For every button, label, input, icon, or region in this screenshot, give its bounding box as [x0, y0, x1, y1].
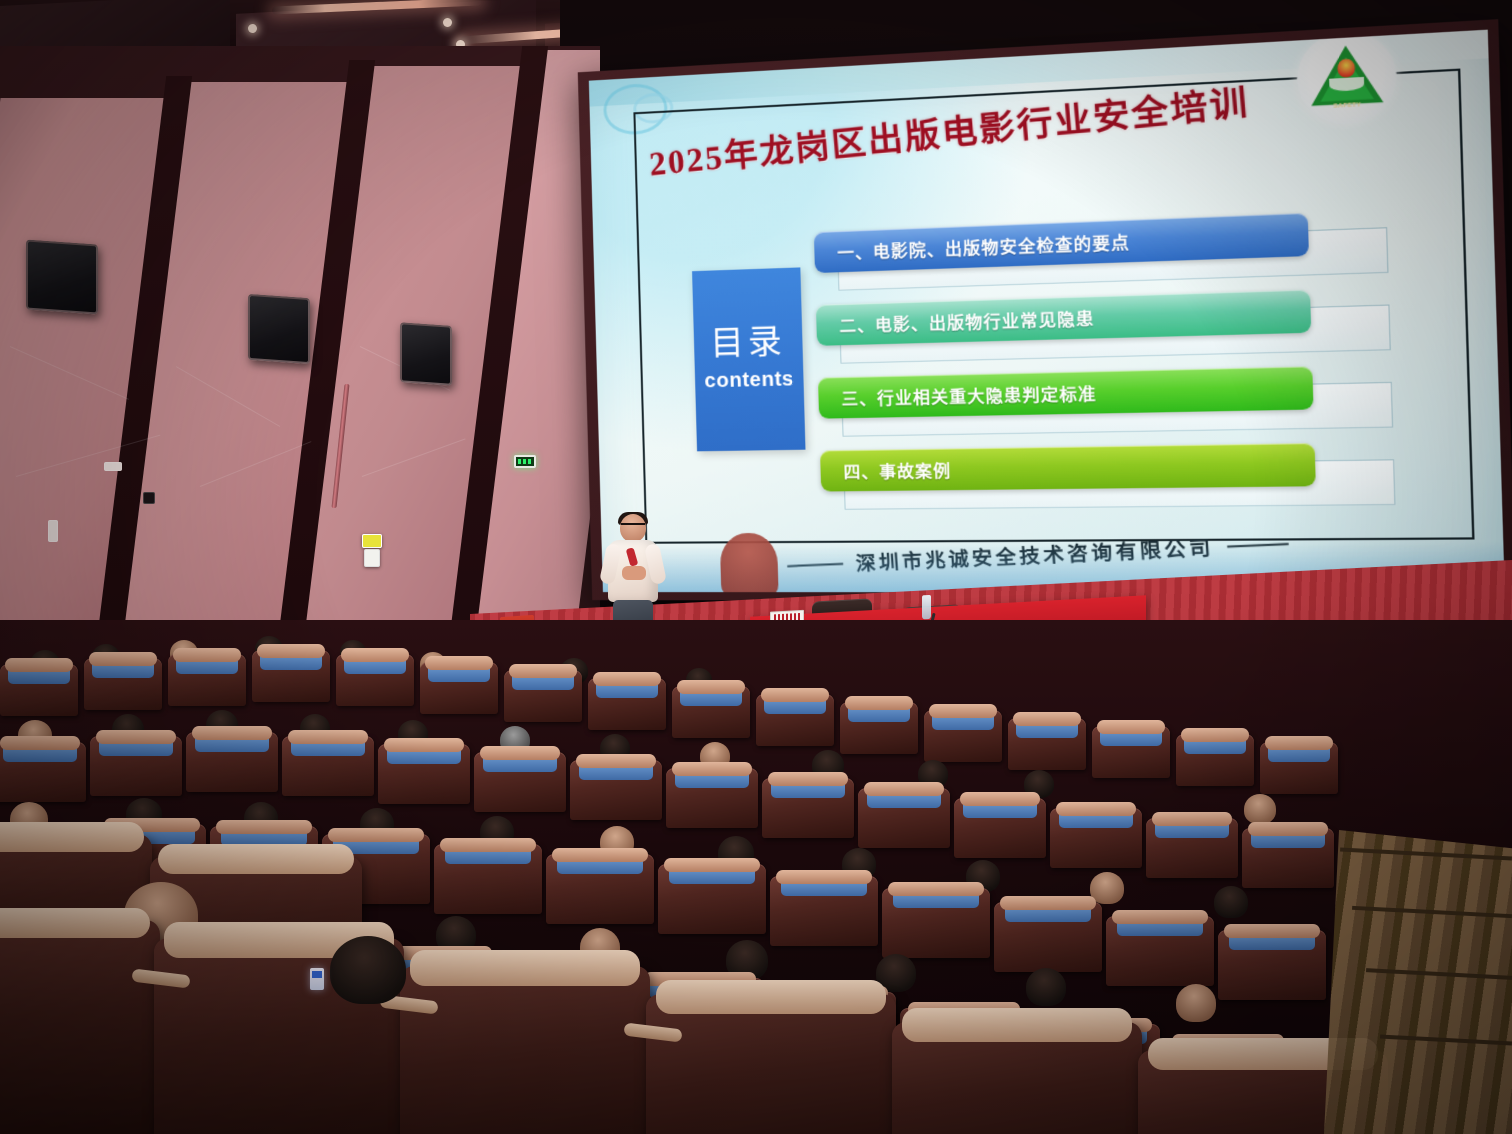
seat[interactable] [892, 1022, 1142, 1134]
seat[interactable] [1176, 734, 1254, 786]
slide: SAFETY 2025年龙岗区出版电影行业安全培训 目录 contents 一、… [589, 30, 1505, 593]
water-bottle [922, 595, 931, 619]
seat[interactable] [420, 662, 498, 714]
seat[interactable] [474, 752, 566, 812]
seat[interactable] [0, 742, 86, 802]
list-item: 二、电影、出版物行业常见隐患 [816, 287, 1391, 366]
seat[interactable] [994, 902, 1102, 972]
seat[interactable] [672, 686, 750, 738]
seat[interactable] [252, 650, 330, 702]
seat[interactable] [90, 736, 182, 796]
seat[interactable] [924, 710, 1002, 762]
seat[interactable] [282, 736, 374, 796]
ceiling-downlight [443, 18, 452, 27]
seat[interactable] [1242, 828, 1334, 888]
wall-socket [143, 492, 155, 504]
audience-member [1176, 984, 1216, 1022]
no-smoking-sign-icon [364, 549, 380, 567]
seat[interactable] [0, 920, 160, 1134]
seat[interactable] [666, 768, 758, 828]
exit-sign-icon [514, 455, 536, 468]
glasses-icon [621, 523, 645, 528]
seat[interactable] [434, 844, 542, 914]
auditorium-seating [0, 620, 1512, 1134]
audience-member [330, 936, 406, 1004]
ceiling-downlight [248, 24, 257, 33]
seat[interactable] [1218, 930, 1326, 1000]
seat[interactable] [1050, 808, 1142, 868]
seat[interactable] [570, 760, 662, 820]
presenter-hands [622, 566, 646, 580]
seat[interactable] [1106, 916, 1214, 986]
warning-sign-icon [362, 534, 382, 548]
seat[interactable] [840, 702, 918, 754]
list-item: 三、行业相关重大隐患判定标准 [818, 364, 1393, 439]
seat[interactable] [1008, 718, 1086, 770]
seat[interactable] [1092, 726, 1170, 778]
wall-speaker-icon [26, 239, 98, 314]
seat[interactable] [400, 966, 650, 1134]
footer-rule [1227, 542, 1289, 547]
smartphone-icon [310, 968, 324, 990]
seat[interactable] [168, 654, 246, 706]
seat[interactable] [762, 778, 854, 838]
contents-list: 一、电影院、出版物安全检查的要点 二、电影、出版物行业常见隐患 三、行业相关重大… [814, 210, 1396, 524]
seat[interactable] [954, 798, 1046, 858]
seat[interactable] [186, 732, 278, 792]
seat[interactable] [546, 854, 654, 924]
seat[interactable] [1146, 818, 1238, 878]
seat[interactable] [858, 788, 950, 848]
scene-photo: SAFETY 2025年龙岗区出版电影行业安全培训 目录 contents 一、… [0, 0, 1512, 1134]
seat[interactable] [1260, 742, 1338, 794]
seat[interactable] [84, 658, 162, 710]
audience-member [1214, 886, 1248, 918]
footer-rule [787, 562, 843, 567]
seat[interactable] [658, 864, 766, 934]
seat[interactable] [756, 694, 834, 746]
seat[interactable] [588, 678, 666, 730]
aisle-steps [1324, 830, 1512, 1134]
projection-screen: SAFETY 2025年龙岗区出版电影行业安全培训 目录 contents 一、… [578, 19, 1512, 601]
wall-socket [48, 520, 58, 542]
seat[interactable] [646, 994, 896, 1134]
seat[interactable] [770, 876, 878, 946]
wall-speaker-icon [248, 294, 310, 364]
list-item: 四、事故案例 [820, 442, 1396, 512]
wall-speaker-icon [400, 322, 452, 386]
contents-label-cn: 目录 [710, 326, 787, 362]
silhouette-head [720, 533, 779, 592]
audience-member [1244, 794, 1276, 824]
contents-label-box: 目录 contents [692, 267, 805, 451]
list-item-label: 三、行业相关重大隐患判定标准 [818, 366, 1314, 418]
seat[interactable] [504, 670, 582, 722]
seat[interactable] [882, 888, 990, 958]
seat[interactable] [336, 654, 414, 706]
wall-socket [104, 462, 122, 471]
seat[interactable] [378, 744, 470, 804]
contents-label-en: contents [704, 368, 794, 393]
seat[interactable] [0, 664, 78, 716]
list-item-label: 四、事故案例 [820, 443, 1316, 492]
presenter-head [620, 514, 646, 542]
audience-member [1026, 968, 1066, 1006]
